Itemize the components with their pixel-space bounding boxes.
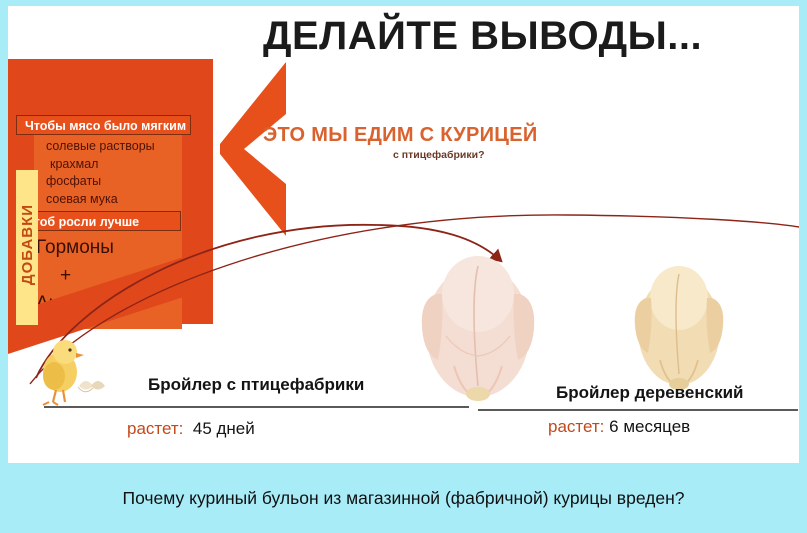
village-broiler-label: Бройлер деревенский xyxy=(556,383,743,403)
growth-value: 45 дней xyxy=(193,419,255,438)
infographic-canvas: ДЕЛАЙТЕ ВЫВОДЫ... Чтобы мясо было мягким… xyxy=(8,6,799,463)
village-broiler-growth: растет: 6 месяцев xyxy=(548,417,690,437)
divider-right xyxy=(478,409,798,411)
growth-label: растет: xyxy=(548,417,604,436)
factory-broiler-label: Бройлер с птицефабрики xyxy=(148,375,364,395)
bottom-caption: Почему куриный бульон из магазинной (фаб… xyxy=(0,463,807,533)
growth-value: 6 месяцев xyxy=(609,417,690,436)
divider-left xyxy=(44,406,469,408)
chick-and-eggs-image xyxy=(32,336,112,408)
village-broiler-image xyxy=(620,250,738,390)
growth-label: растет: xyxy=(127,419,183,438)
infographic-poster: ДЕЛАЙТЕ ВЫВОДЫ... Чтобы мясо было мягким… xyxy=(0,0,807,533)
factory-broiler-image xyxy=(406,236,550,401)
factory-broiler-growth: растет: 45 дней xyxy=(127,419,255,439)
